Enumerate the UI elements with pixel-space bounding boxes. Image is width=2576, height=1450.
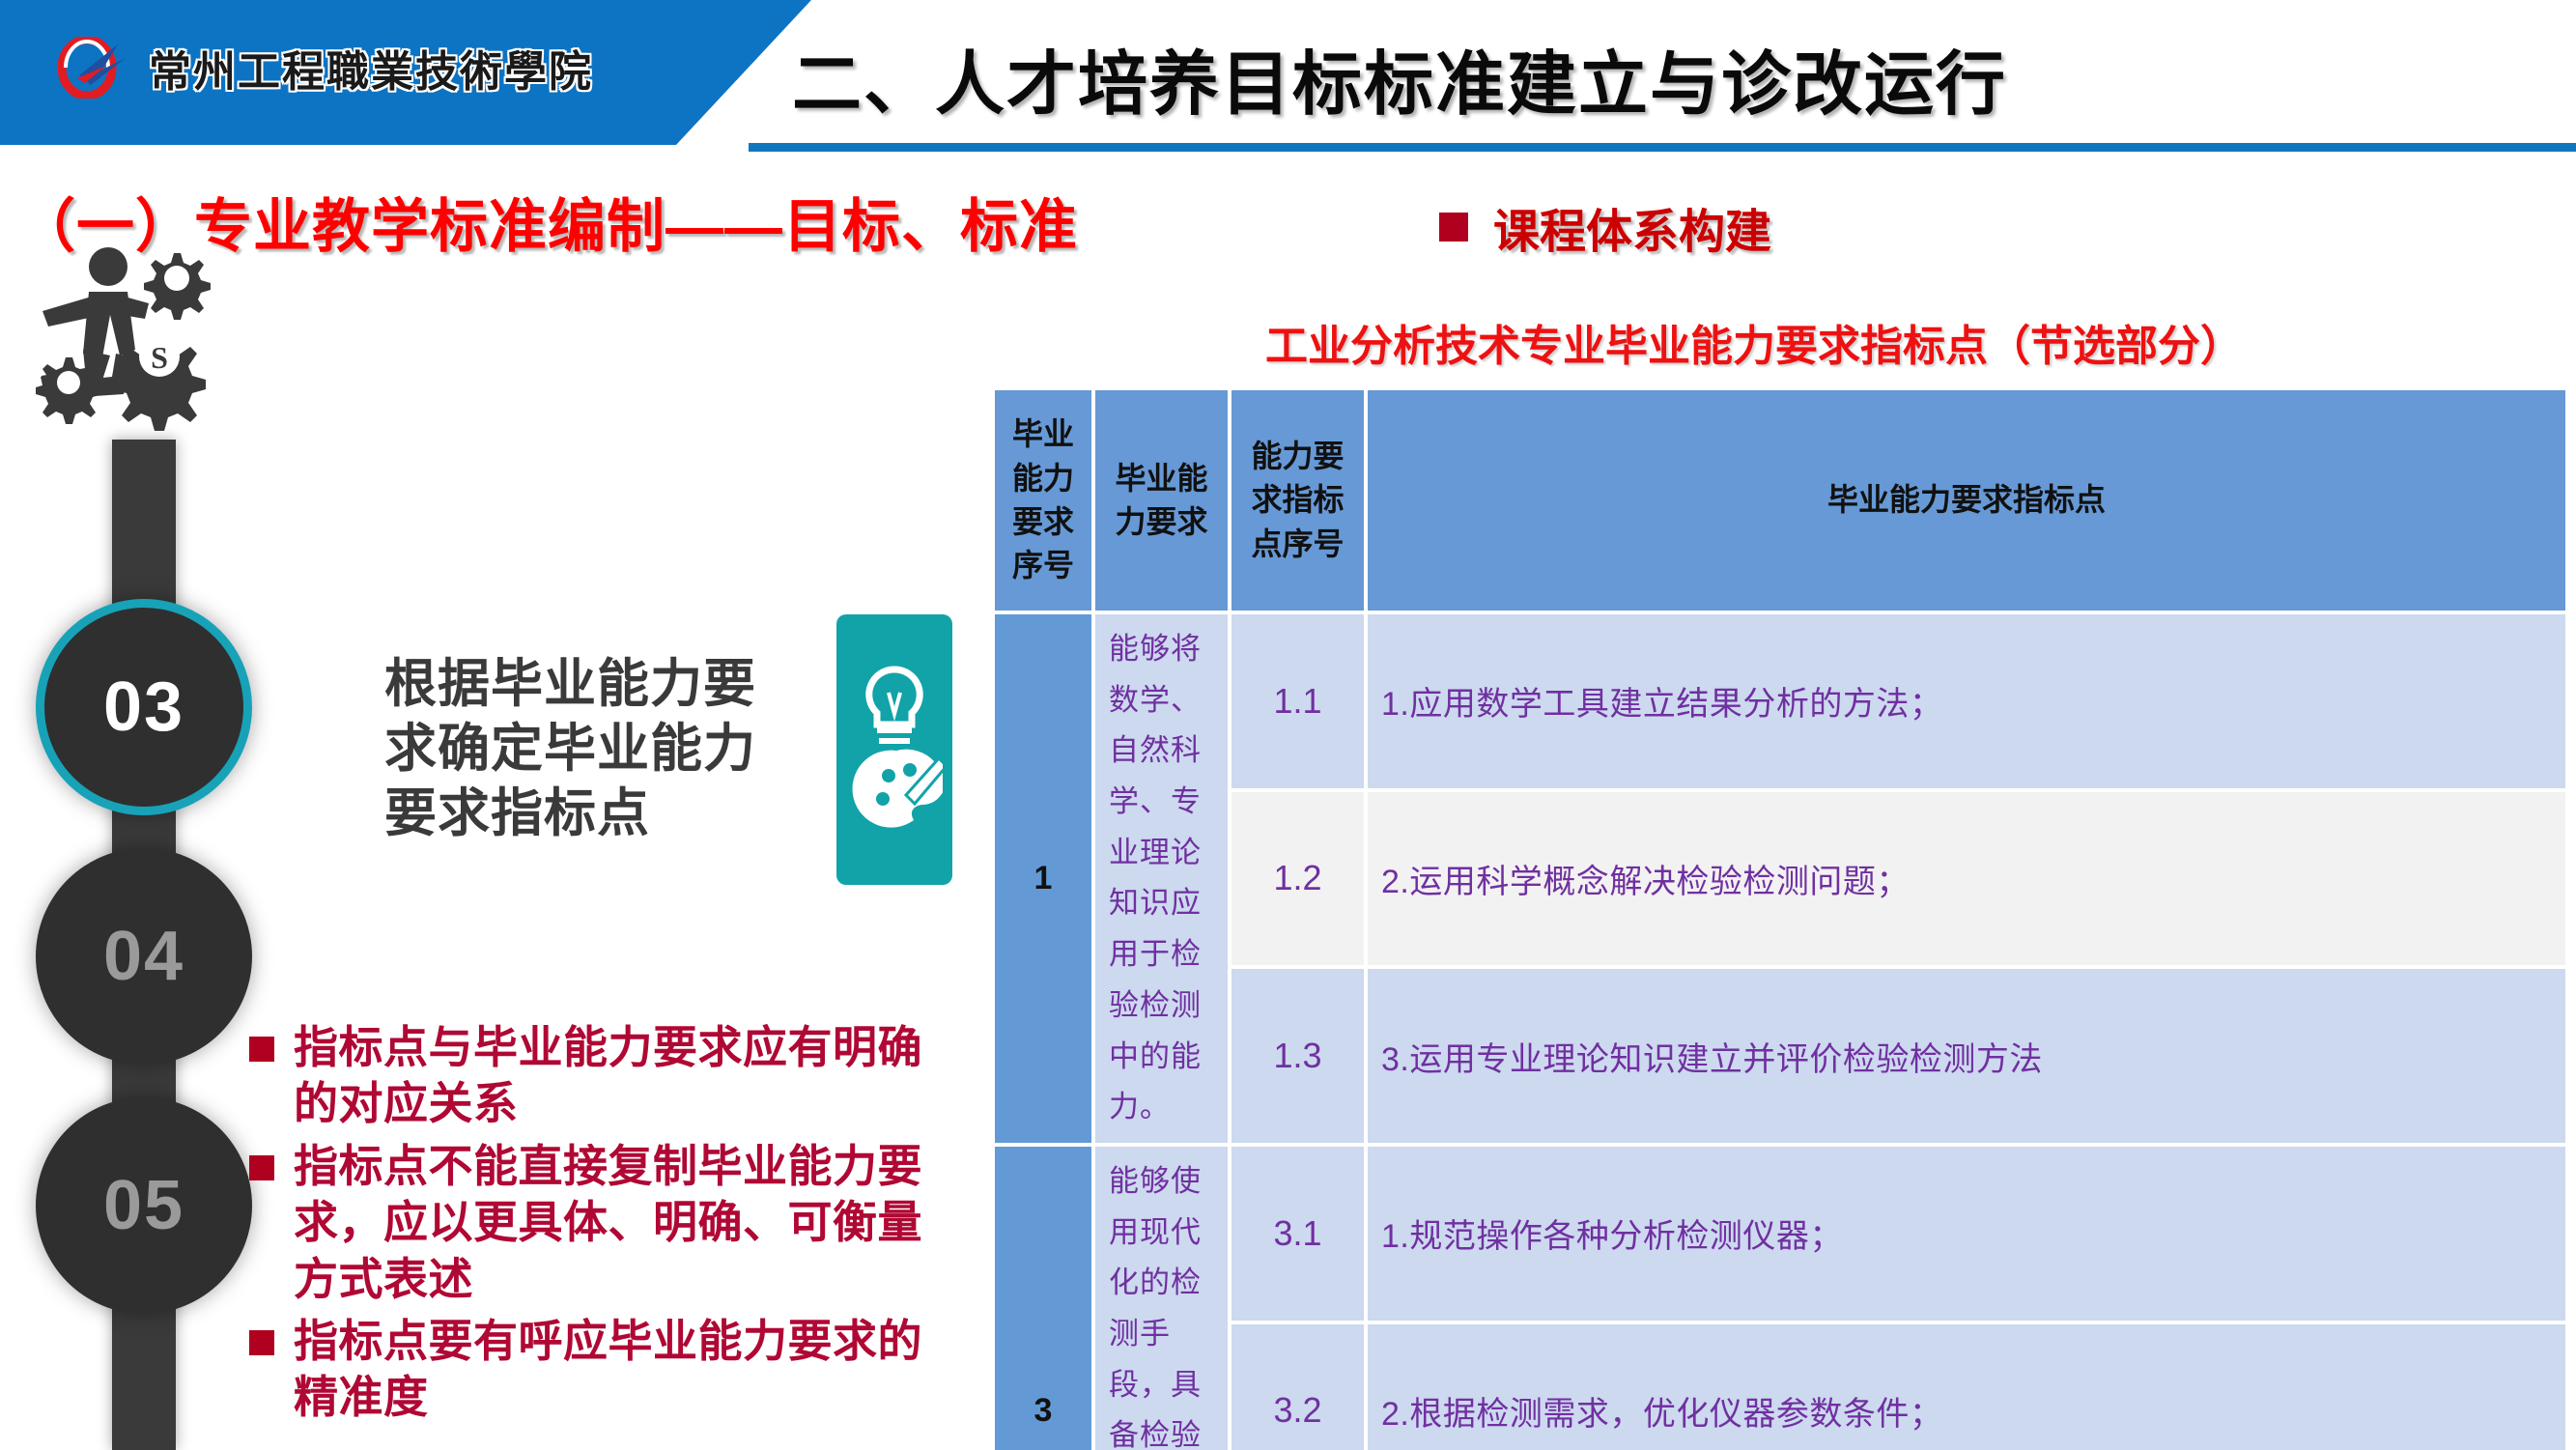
column-header-point: 毕业能力要求指标点 [1368, 390, 2565, 611]
svg-text:S: S [151, 340, 168, 375]
table-row: 1 能够将数学、自然科学、专业理论知识应用于检验检测中的能力。 1.1 1.应用… [995, 614, 2565, 788]
column-header-point-no: 能力要求指标点序号 [1231, 390, 1364, 611]
cell-req-no: 1 [995, 614, 1091, 1143]
table-row: 1.2 2.运用科学概念解决检验检测问题； [995, 792, 2565, 966]
step-heading-line: 求确定毕业能力 [384, 717, 838, 782]
step-heading-line: 根据毕业能力要 [384, 652, 838, 717]
list-item-text: 指标点要有呼应毕业能力要求的精准度 [294, 1313, 964, 1426]
square-bullet-icon [1439, 213, 1468, 242]
accent-card [836, 614, 952, 885]
cell-point-no: 3.2 [1231, 1324, 1364, 1450]
lightbulb-palette-icon [846, 658, 943, 841]
cell-req-no: 3 [995, 1147, 1091, 1450]
topic-marker: 课程体系构建 [1439, 193, 1771, 261]
column-header-req-no: 毕业能力要求序号 [995, 390, 1091, 611]
list-item: 指标点不能直接复制毕业能力要求，应以更具体、明确、可衡量方式表述 [249, 1138, 964, 1307]
square-bullet-icon [249, 1037, 274, 1062]
table-row: 3 能够使用现代化的检测手段，具备检验检测所必需的技能、技巧。 3.1 1.规范… [995, 1147, 2565, 1321]
list-item: 指标点与毕业能力要求应有明确的对应关系 [249, 1019, 964, 1132]
topic-label: 课程体系构建 [1493, 193, 1771, 261]
square-bullet-icon [249, 1155, 274, 1180]
timeline-node-03[interactable]: 03 [36, 599, 252, 815]
slide-title: 二、人才培养目标标准建立与诊改运行 [792, 27, 2007, 128]
slide-canvas: 常州工程職業技術學院 二、人才培养目标标准建立与诊改运行 （一）专业教学标准编制… [0, 0, 2576, 1450]
institution-logo: 常州工程職業技術學院 [58, 37, 593, 99]
timeline-node-04[interactable]: 04 [36, 848, 252, 1065]
requirements-table-wrapper: 毕业能力要求序号 毕业能力要求 能力要求指标点序号 毕业能力要求指标点 1 能够… [991, 386, 2569, 1450]
cell-point-no: 1.2 [1231, 792, 1364, 966]
step-heading-line: 要求指标点 [384, 782, 838, 846]
cell-req-text: 能够使用现代化的检测手段，具备检验检测所必需的技能、技巧。 [1095, 1147, 1228, 1450]
cell-point-text: 1.应用数学工具建立结果分析的方法； [1368, 614, 2565, 788]
list-item-text: 指标点与毕业能力要求应有明确的对应关系 [294, 1019, 964, 1132]
cell-req-text: 能够将数学、自然科学、专业理论知识应用于检验检测中的能力。 [1095, 614, 1228, 1143]
square-bullet-icon [249, 1330, 274, 1355]
institution-name: 常州工程職業技術學院 [149, 37, 593, 99]
cell-point-no: 1.3 [1231, 969, 1364, 1143]
cell-point-text: 1.规范操作各种分析检测仪器； [1368, 1147, 2565, 1321]
timeline-node-label: 04 [103, 917, 184, 996]
cell-point-no: 3.1 [1231, 1147, 1364, 1321]
cell-point-text: 2.根据检测需求，优化仪器参数条件； [1368, 1324, 2565, 1450]
timeline-node-label: 05 [103, 1166, 184, 1245]
table-caption: 工业分析技术专业毕业能力要求指标点（节选部分） [1265, 311, 2243, 373]
swoosh-emblem-icon [58, 37, 133, 99]
cell-point-no: 1.1 [1231, 614, 1364, 788]
timeline-node-05[interactable]: 05 [36, 1097, 252, 1314]
timeline-node-label: 03 [103, 668, 184, 747]
list-item-text: 指标点不能直接复制毕业能力要求，应以更具体、明确、可衡量方式表述 [294, 1138, 964, 1307]
title-underline [749, 143, 2576, 152]
guideline-bullet-list: 指标点与毕业能力要求应有明确的对应关系 指标点不能直接复制毕业能力要求，应以更具… [249, 1019, 964, 1432]
requirements-table: 毕业能力要求序号 毕业能力要求 能力要求指标点序号 毕业能力要求指标点 1 能够… [991, 386, 2569, 1450]
cell-point-text: 2.运用科学概念解决检验检测问题； [1368, 792, 2565, 966]
table-row: 1.3 3.运用专业理论知识建立并评价检验检测方法 [995, 969, 2565, 1143]
cell-point-text: 3.运用专业理论知识建立并评价检验检测方法 [1368, 969, 2565, 1143]
step-heading: 根据毕业能力要 求确定毕业能力 要求指标点 [384, 652, 838, 846]
worker-gears-icon: S [27, 242, 249, 464]
list-item: 指标点要有呼应毕业能力要求的精准度 [249, 1313, 964, 1426]
column-header-req: 毕业能力要求 [1095, 390, 1228, 611]
table-header-row: 毕业能力要求序号 毕业能力要求 能力要求指标点序号 毕业能力要求指标点 [995, 390, 2565, 611]
table-row: 3.2 2.根据检测需求，优化仪器参数条件； [995, 1324, 2565, 1450]
